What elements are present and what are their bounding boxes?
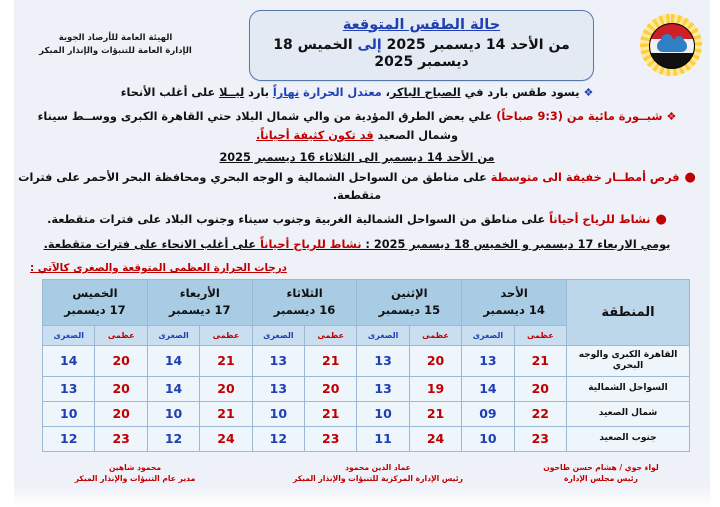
max-temp: 23 [95,426,147,451]
flag-band-black [650,53,694,68]
max-temp: 24 [409,426,461,451]
min-temp: 11 [357,426,409,451]
day-4-name: الخميس [45,285,145,302]
subheader-max-day-1: عظمى [409,326,461,346]
star-bullet-icon: ❖ [666,110,676,123]
temperature-table: المنطقة الأحد 14 ديسمبر الإثنين 15 ديسمب… [42,279,690,452]
min-temp: 10 [357,401,409,426]
subheader-max-day-2: عظمى [305,326,357,346]
region-name: جنوب الصعيد [567,426,690,451]
signature-block-1: عماد الدين محمود رئيس الإدارة المركزية ل… [273,462,483,486]
summary-bullet-2: ❖شبــورة مائية من (9:3 صباحاً) علي بعض ا… [18,108,696,145]
min-temp: 14 [147,376,199,401]
subheader-max-day-0: عظمى [514,326,566,346]
min-temp: 13 [43,376,95,401]
max-temp: 22 [514,401,566,426]
period-1-item-2: ●نشاط للرياح أحياناً على مناطق من السواح… [18,211,696,229]
period-1-date-line: من الأحد 14 ديسمبر الى الثلاثاء 16 ديسمب… [18,151,696,164]
min-temp: 10 [252,401,304,426]
p1i2-seg2: على مناطق من السواحل الشمالية الغربية وج… [47,213,549,226]
signature-block-2: لواء جوي / هشام حسن طاحون رئيس مجلس الإد… [516,462,686,486]
max-temp: 20 [95,376,147,401]
min-temp: 12 [147,426,199,451]
subheader-max-day-3: عظمى [200,326,252,346]
organization-name: الهيئة العامة للأرصاد الجوية الإدارة الع… [28,32,203,58]
subheader-min-day-4: الصغرى [43,326,95,346]
min-temp: 10 [147,401,199,426]
table-row: القاهرة الكبرى والوجه البحري 21 13 20 13… [43,346,690,377]
subtitle-before: من الأحد 14 ديسمبر 2025 [382,37,570,53]
max-temp: 20 [409,346,461,377]
min-temp: 13 [462,346,514,377]
subheader-min-day-3: الصغرى [147,326,199,346]
table-body: القاهرة الكبرى والوجه البحري 21 13 20 13… [43,346,690,452]
p1i1-seg2: على مناطق من السواحل الشمالية و الوجه ال… [18,171,491,202]
b1-seg9: على أغلب الأنحاء [121,86,219,99]
page-subtitle-daterange: من الأحد 14 ديسمبر 2025 إلى الخميس 18 دي… [260,37,583,72]
day-2-date: 16 ديسمبر [255,302,355,319]
max-temp: 20 [305,376,357,401]
min-temp: 13 [252,376,304,401]
b1-seg6: نهاراً [273,86,299,99]
column-header-day-2: الثلاثاء 16 ديسمبر [252,280,357,326]
day-0-date: 14 ديسمبر [464,302,564,319]
p2-suffix: على أغلب الانحاء على فترات متقطعة. [44,238,260,251]
org-line-2: الإدارة العامة للتنبؤات والإنذار المبكر [28,45,203,58]
table-head: المنطقة الأحد 14 ديسمبر الإثنين 15 ديسمب… [43,280,690,346]
min-temp: 13 [252,346,304,377]
column-header-day-0: الأحد 14 ديسمبر [462,280,567,326]
p2-highlight: نشاط للرياح أحياناً [260,238,361,251]
table-caption: درجات الحرارة العظمى المتوقعة والصغرى كا… [18,262,680,274]
min-temp: 13 [357,346,409,377]
max-temp: 23 [305,426,357,451]
page-title: حالة الطقس المتوقعة [260,17,583,33]
logo-core [649,23,695,69]
title-box: حالة الطقس المتوقعة من الأحد 14 ديسمبر 2… [249,10,594,81]
b1-seg4: معتدل الحرارة [303,86,382,99]
min-temp: 14 [147,346,199,377]
max-temp: 20 [200,376,252,401]
max-temp: 21 [200,346,252,377]
signature-name: لواء جوي / هشام حسن طاحون [516,462,686,474]
day-0-name: الأحد [464,285,564,302]
period-2-line: يومي الاربعاء 17 ديسمبر و الخميس 18 ديسم… [18,236,696,254]
min-temp: 12 [43,426,95,451]
max-temp: 20 [95,346,147,377]
region-name: القاهرة الكبرى والوجه البحري [567,346,690,377]
table-row: جنوب الصعيد 23 10 24 11 23 12 24 12 23 1… [43,426,690,451]
max-temp: 21 [305,401,357,426]
signature-title: رئيس مجلس الإدارة [516,473,686,485]
table-row: شمال الصعيد 22 09 21 10 21 10 21 10 20 1… [43,401,690,426]
org-line-1: الهيئة العامة للأرصاد الجوية [28,32,203,45]
table-head-days-row: المنطقة الأحد 14 ديسمبر الإثنين 15 ديسمب… [43,280,690,326]
b1-seg3: ، [382,86,390,99]
table-row: السواحل الشمالية 20 14 19 13 20 13 20 14… [43,376,690,401]
page-footer: محمود شاهين مدير عام التنبؤات والإنذار ا… [0,452,720,486]
day-1-date: 15 ديسمبر [359,302,459,319]
min-temp: 12 [252,426,304,451]
day-3-date: 17 ديسمبر [150,302,250,319]
signature-block-0: محمود شاهين مدير عام التنبؤات والإنذار ا… [30,462,240,486]
star-bullet-icon: ❖ [583,86,593,99]
subheader-min-day-0: الصغرى [462,326,514,346]
b2-seg1: شبــورة مائية من (9:3 صباحاً) [496,110,662,123]
signature-name: محمود شاهين [30,462,240,474]
region-name: شمال الصعيد [567,401,690,426]
max-temp: 23 [514,426,566,451]
min-temp: 10 [43,401,95,426]
min-temp: 09 [462,401,514,426]
dot-bullet-icon: ● [656,212,667,227]
period-1-item-1: ●فرص أمطــار خفيفة الى متوسطة على مناطق … [18,169,696,206]
max-temp: 21 [514,346,566,377]
signature-name: عماد الدين محمود [273,462,483,474]
subheader-max-day-4: عظمى [95,326,147,346]
max-temp: 21 [409,401,461,426]
p1i2-seg1: نشاط للرياح أحياناً [549,213,650,226]
min-temp: 14 [462,376,514,401]
region-name: السواحل الشمالية [567,376,690,401]
column-header-day-3: الأربعاء 17 ديسمبر [147,280,252,326]
max-temp: 20 [514,376,566,401]
max-temp: 21 [200,401,252,426]
weather-forecast-page: الهيئة العامة للأرصاد الجوية الإدارة الع… [0,0,720,507]
max-temp: 19 [409,376,461,401]
signature-title: رئيس الإدارة المركزية للتنبؤات والإنذار … [273,473,483,485]
day-3-name: الأربعاء [150,285,250,302]
b1-seg1: يسود طقس بارد في [461,86,580,99]
subheader-min-day-1: الصغرى [357,326,409,346]
b1-seg2: الصباح الباكر [390,86,461,99]
temperature-table-wrap: المنطقة الأحد 14 ديسمبر الإثنين 15 ديسمب… [0,279,720,452]
min-temp: 13 [357,376,409,401]
day-2-name: الثلاثاء [255,285,355,302]
max-temp: 20 [95,401,147,426]
day-1-name: الإثنين [359,285,459,302]
min-temp: 14 [43,346,95,377]
column-header-day-1: الإثنين 15 ديسمبر [357,280,462,326]
page-header: الهيئة العامة للأرصاد الجوية الإدارة الع… [0,0,720,84]
summary-section: ❖يسود طقس بارد في الصباح الباكر، معتدل ا… [0,84,720,274]
min-temp: 10 [462,426,514,451]
egypt-meteorological-authority-logo-icon [640,14,702,76]
b1-seg8: ليــلا [219,86,244,99]
p2-prefix: يومي الاربعاء 17 ديسمبر و الخميس 18 ديسم… [362,238,671,251]
column-header-day-4: الخميس 17 ديسمبر [43,280,148,326]
subtitle-ila: إلى [358,37,382,53]
dot-bullet-icon: ● [685,170,696,185]
column-header-region: المنطقة [567,280,690,346]
subheader-min-day-2: الصغرى [252,326,304,346]
max-temp: 24 [200,426,252,451]
cloud-icon [657,39,687,52]
b1-seg7: بارد [244,86,273,99]
p1i1-seg1: فرص أمطــار خفيفة الى متوسطة [491,171,680,184]
max-temp: 21 [305,346,357,377]
b2-seg3: قد تكون كثيفة أحياناً. [256,129,374,142]
summary-bullet-1: ❖يسود طقس بارد في الصباح الباكر، معتدل ا… [18,84,696,102]
signature-title: مدير عام التنبؤات والإنذار المبكر [30,473,240,485]
day-4-date: 17 ديسمبر [45,302,145,319]
